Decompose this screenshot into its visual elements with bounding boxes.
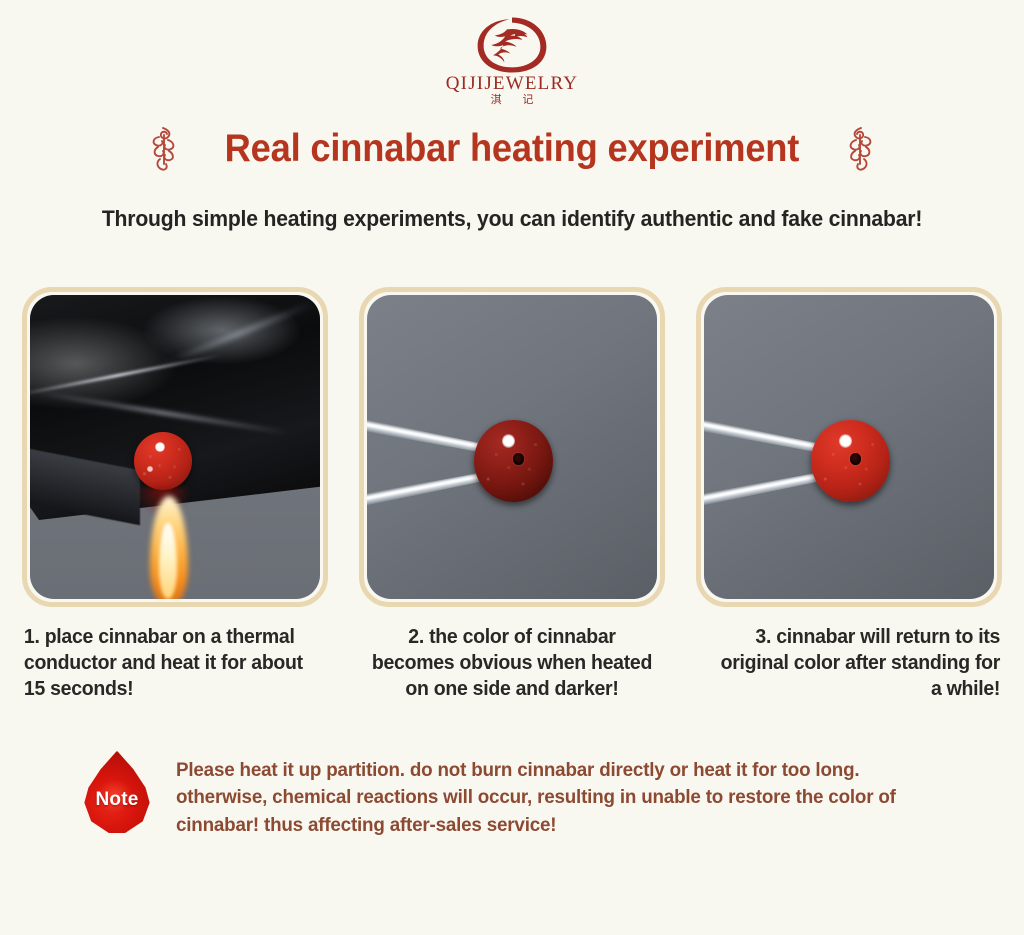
step-caption-1: 1. place cinnabar on a thermal conductor… (22, 624, 313, 703)
brand-wordmark: QIJIJEWELRY (446, 74, 578, 93)
bead-specular-highlight (155, 442, 165, 452)
note-section: Note Please heat it up partition. do not… (0, 749, 1024, 840)
flame-core (159, 523, 176, 599)
decorative-knot-ornament-right-icon (843, 126, 877, 172)
cinnabar-bead (134, 432, 192, 490)
bead-body (474, 420, 552, 502)
bead-body (134, 432, 192, 490)
step-image-frame-2 (359, 287, 665, 607)
step-panel-2: 2. the color of cinnabar becomes obvious… (359, 287, 665, 703)
step-panel-3: 3. cinnabar will return to its original … (696, 287, 1002, 703)
step-panel-1: 1. place cinnabar on a thermal conductor… (22, 287, 328, 703)
brand-wordmark-cn: 淇 记 (482, 95, 543, 106)
step-image-frame-3 (696, 287, 1002, 607)
page-title: Real cinnabar heating experiment (225, 128, 800, 171)
restored-red-cinnabar-bead-held-by-tweezers-image (704, 295, 994, 599)
darkened-cinnabar-bead-held-by-tweezers-image (367, 295, 657, 599)
step-caption-2: 2. the color of cinnabar becomes obvious… (367, 624, 658, 703)
decorative-knot-ornament-left-icon (147, 126, 181, 172)
note-text: Please heat it up partition. do not burn… (176, 749, 951, 840)
note-badge-label: Note (80, 789, 154, 811)
cinnabar-bead (474, 420, 552, 502)
bead-body (811, 420, 889, 502)
page-title-row: Real cinnabar heating experiment (0, 126, 1024, 172)
brand-logo-block: QIJIJEWELRY 淇 记 (0, 0, 1024, 106)
red-water-drop-badge-icon: Note (80, 749, 154, 837)
dragon-circle-logo-icon (469, 14, 555, 76)
step-image-frame-1 (22, 287, 328, 607)
bead-texture (134, 432, 192, 490)
steps-gallery: 1. place cinnabar on a thermal conductor… (0, 287, 1024, 703)
cinnabar-bead (811, 420, 889, 502)
bead-specular-highlight (147, 466, 153, 471)
cinnabar-bead-on-thermal-conductor-with-flame-image (30, 295, 320, 599)
step-caption-3: 3. cinnabar will return to its original … (711, 624, 1002, 703)
page-subtitle: Through simple heating experiments, you … (31, 206, 994, 232)
